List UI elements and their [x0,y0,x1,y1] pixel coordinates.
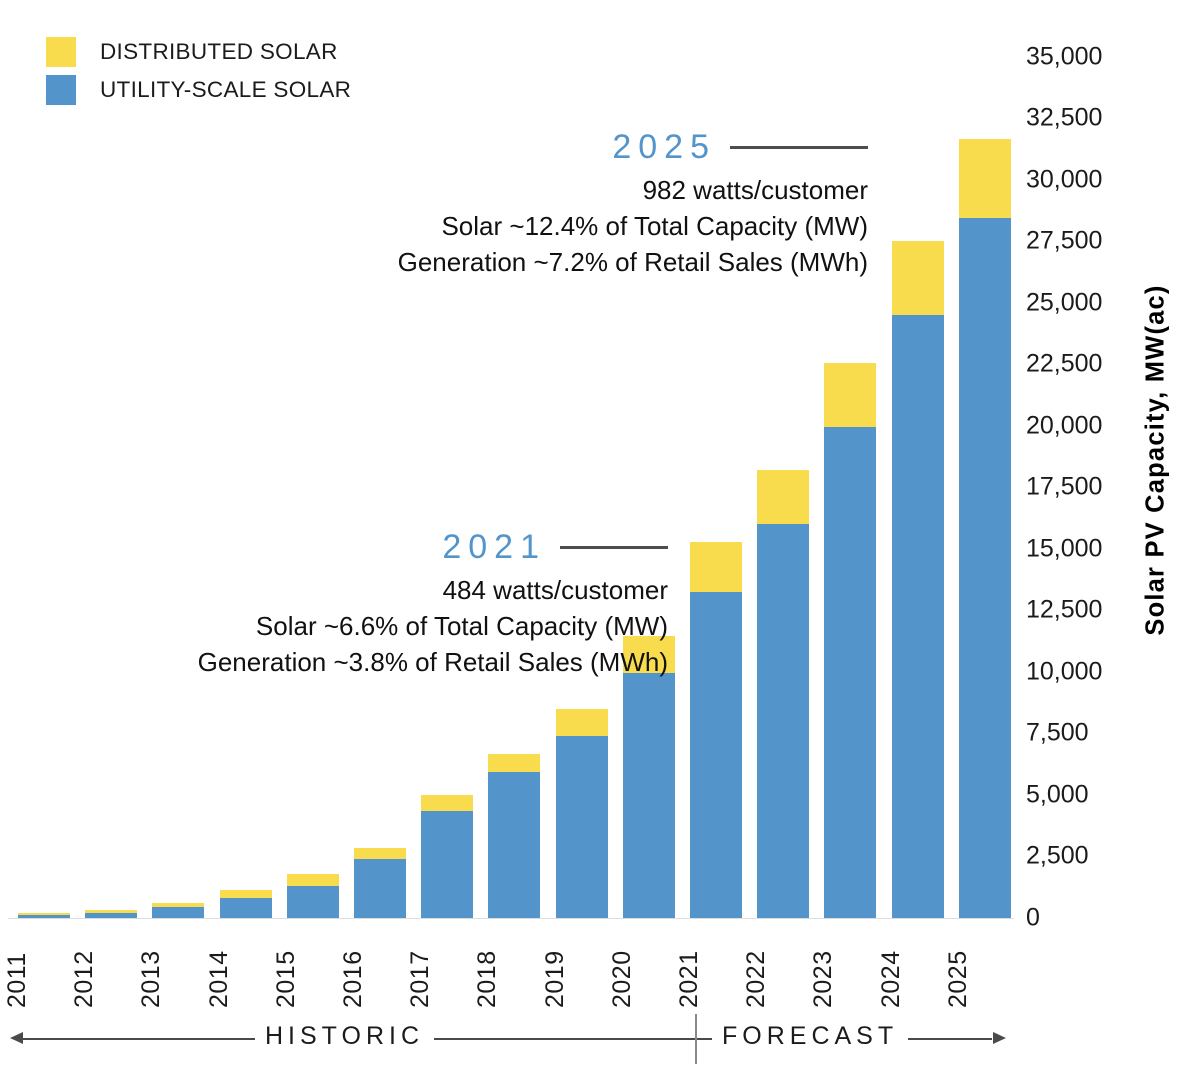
x-tick-2022: 2022 [748,922,818,1008]
bar-2025[interactable] [959,139,1011,918]
callout-2021-year: 2021 [442,528,546,567]
bar-segment-utility-scale-2013 [152,907,204,918]
callout-2025-head: 2025 [398,128,868,167]
y-tick-label-12500: 12,500 [1026,596,1126,625]
bar-segment-distributed-2022 [757,470,809,524]
x-axis-baseline [8,918,1014,920]
y-tick-label-20000: 20,000 [1026,411,1126,440]
solar-capacity-chart: DISTRIBUTED SOLAR UTILITY-SCALE SOLAR 20… [0,0,1186,1080]
y-tick-label-7500: 7,500 [1026,719,1126,748]
callout-2021-lines: 484 watts/customer Solar ~6.6% of Total … [198,572,668,680]
x-tick-label-2015: 2015 [272,950,301,1008]
bar-segment-utility-scale-2011 [18,915,70,918]
bar-segment-distributed-2018 [488,754,540,773]
callout-2021-line-1: 484 watts/customer [198,572,668,608]
x-tick-label-2012: 2012 [70,950,99,1008]
callout-2025-line-1: 982 watts/customer [398,172,868,208]
callout-2021-line-2: Solar ~6.6% of Total Capacity (MW) [198,608,668,644]
bar-segment-distributed-2024 [892,241,944,315]
y-tick-label-22500: 22,500 [1026,350,1126,379]
bar-2021[interactable] [690,542,742,917]
x-tick-2016: 2016 [345,922,415,1008]
x-tick-label-2011: 2011 [3,952,32,1008]
callout-2025-leader-line [730,146,868,149]
bar-segment-distributed-2012 [85,910,137,913]
x-tick-2020: 2020 [614,922,684,1008]
x-tick-2021: 2021 [681,922,751,1008]
bar-segment-utility-scale-2025 [959,218,1011,918]
bar-segment-utility-scale-2015 [287,886,339,917]
bar-segment-utility-scale-2014 [220,898,272,917]
bar-2017[interactable] [421,795,473,917]
bar-segment-utility-scale-2023 [824,427,876,918]
bar-2024[interactable] [892,241,944,918]
x-tick-label-2017: 2017 [406,950,435,1008]
historic-forecast-divider [695,1014,697,1064]
bar-2019[interactable] [556,709,608,917]
bar-segment-distributed-2025 [959,139,1011,218]
x-tick-2011: 2011 [9,922,79,1008]
callout-2021-leader-line [560,546,668,549]
y-tick-label-25000: 25,000 [1026,288,1126,317]
callout-2021: 2021 484 watts/customer Solar ~6.6% of T… [198,528,668,680]
bar-segment-utility-scale-2019 [556,736,608,918]
bar-2018[interactable] [488,754,540,918]
y-tick-label-30000: 30,000 [1026,165,1126,194]
x-tick-label-2016: 2016 [339,950,368,1008]
y-tick-label-5000: 5,000 [1026,780,1126,809]
bar-2015[interactable] [287,874,339,918]
x-tick-2025: 2025 [950,922,1020,1008]
bar-segment-utility-scale-2021 [690,592,742,918]
historic-label: HISTORIC [255,1022,434,1051]
x-tick-2018: 2018 [479,922,549,1008]
x-tick-label-2020: 2020 [608,950,637,1008]
bar-segment-distributed-2011 [18,913,70,914]
bar-2023[interactable] [824,363,876,918]
x-tick-2013: 2013 [143,922,213,1008]
forecast-arrow-icon [993,1032,1006,1044]
bar-segment-utility-scale-2018 [488,772,540,917]
bar-segment-utility-scale-2024 [892,315,944,918]
forecast-label: FORECAST [712,1022,908,1051]
x-tick-2023: 2023 [815,922,885,1008]
bar-segment-utility-scale-2020 [623,673,675,918]
timeline-band: HISTORIC FORECAST [0,1012,1014,1072]
bar-segment-distributed-2014 [220,890,272,898]
x-tick-2014: 2014 [211,922,281,1008]
y-tick-label-0: 0 [1026,903,1126,932]
x-axis-tick-labels: 2011201220132014201520162017201820192020… [0,922,1014,1008]
bar-segment-utility-scale-2022 [757,524,809,918]
y-tick-label-27500: 27,500 [1026,227,1126,256]
callout-2025: 2025 982 watts/customer Solar ~12.4% of … [398,128,868,280]
x-tick-label-2025: 2025 [944,950,973,1008]
x-tick-label-2024: 2024 [877,950,906,1008]
callout-2025-line-2: Solar ~12.4% of Total Capacity (MW) [398,208,868,244]
bar-segment-distributed-2016 [354,848,406,859]
bar-segment-distributed-2019 [556,709,608,735]
x-tick-label-2022: 2022 [742,950,771,1008]
x-tick-2015: 2015 [278,922,348,1008]
y-tick-label-2500: 2,500 [1026,842,1126,871]
x-tick-2012: 2012 [76,922,146,1008]
callout-2021-line-3: Generation ~3.8% of Retail Sales (MWh) [198,644,668,680]
y-tick-label-32500: 32,500 [1026,104,1126,133]
bar-segment-utility-scale-2017 [421,811,473,917]
bar-segment-distributed-2023 [824,363,876,427]
x-tick-2017: 2017 [412,922,482,1008]
callout-2025-lines: 982 watts/customer Solar ~12.4% of Total… [398,172,868,280]
y-tick-label-10000: 10,000 [1026,657,1126,686]
bar-segment-distributed-2021 [690,542,742,591]
bar-segment-utility-scale-2016 [354,859,406,918]
y-axis-tick-labels: 35,00032,50030,00027,50025,00022,50020,0… [1026,0,1126,919]
callout-2025-year: 2025 [612,128,716,167]
y-tick-label-15000: 15,000 [1026,534,1126,563]
bar-segment-distributed-2015 [287,874,339,886]
bar-2016[interactable] [354,848,406,917]
x-tick-label-2021: 2021 [675,950,704,1008]
y-tick-label-17500: 17,500 [1026,473,1126,502]
bar-segment-utility-scale-2012 [85,913,137,918]
bar-2013[interactable] [152,903,204,918]
y-axis-title: Solar PV Capacity, MW(ac) [1128,0,1184,919]
bar-segment-distributed-2013 [152,903,204,907]
bar-segment-distributed-2017 [421,795,473,811]
y-axis-title-text: Solar PV Capacity, MW(ac) [1142,284,1171,635]
x-tick-label-2013: 2013 [137,950,166,1008]
y-tick-label-35000: 35,000 [1026,42,1126,71]
x-tick-2019: 2019 [547,922,617,1008]
x-tick-2024: 2024 [883,922,953,1008]
x-tick-label-2014: 2014 [205,950,234,1008]
x-tick-label-2018: 2018 [473,950,502,1008]
x-tick-label-2019: 2019 [541,950,570,1008]
bar-2011[interactable] [18,913,70,917]
callout-2021-head: 2021 [198,528,668,567]
bar-2014[interactable] [220,890,272,918]
callout-2025-line-3: Generation ~7.2% of Retail Sales (MWh) [398,244,868,280]
bar-2012[interactable] [85,910,137,918]
bar-2022[interactable] [757,470,809,918]
x-tick-label-2023: 2023 [809,950,838,1008]
